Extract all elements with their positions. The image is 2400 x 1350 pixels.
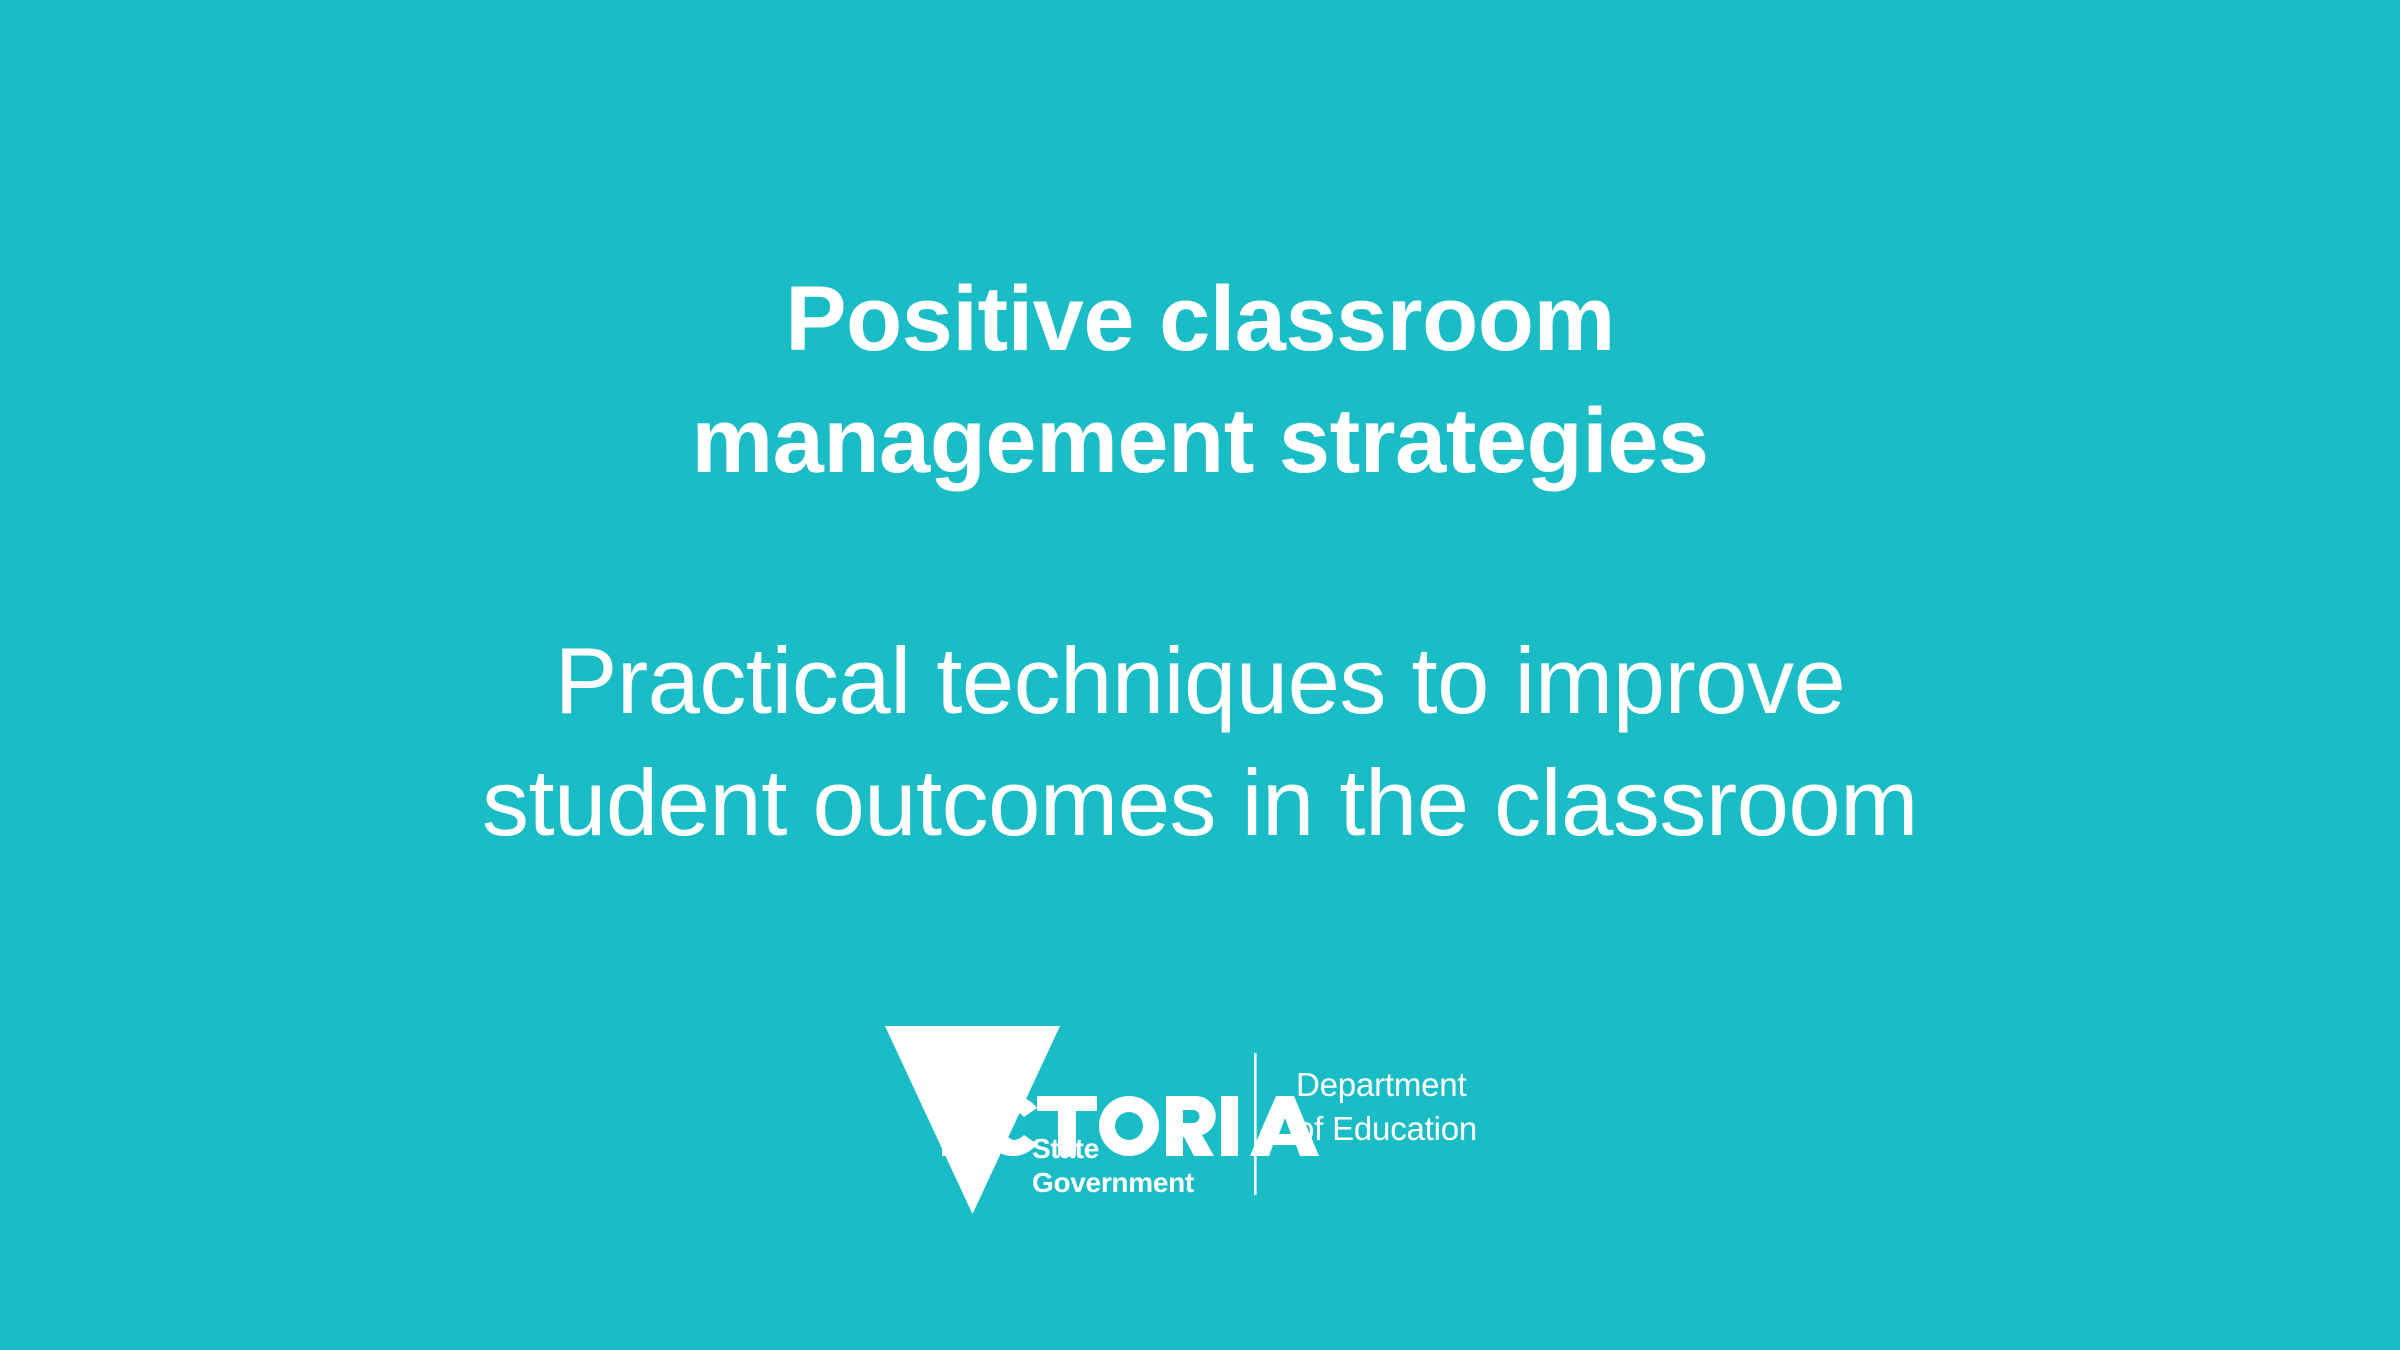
page-title: Positive classroom management strategies [0,258,2400,502]
logo-tier-line-2: Government [1032,1167,1194,1198]
logo-tier-line-1: State [1032,1133,1099,1164]
title-slide: Positive classroom management strategies… [0,0,2400,1350]
logo-svg: State Government Department of Education [880,1018,1520,1230]
logo-department-line-1: Department [1296,1066,1466,1103]
victoria-wordmark [942,1096,1319,1156]
logo-department-line-2: of Education [1296,1110,1477,1147]
title-line-2: management strategies [0,380,2400,502]
subtitle-line-1: Practical techniques to improve [0,620,2400,742]
subtitle-line-2: student outcomes in the classroom [0,742,2400,864]
page-subtitle: Practical techniques to improve student … [0,620,2400,864]
title-line-1: Positive classroom [0,258,2400,380]
logo-divider [1254,1053,1257,1195]
victoria-state-government-logo: State Government Department of Education [880,1018,1520,1230]
